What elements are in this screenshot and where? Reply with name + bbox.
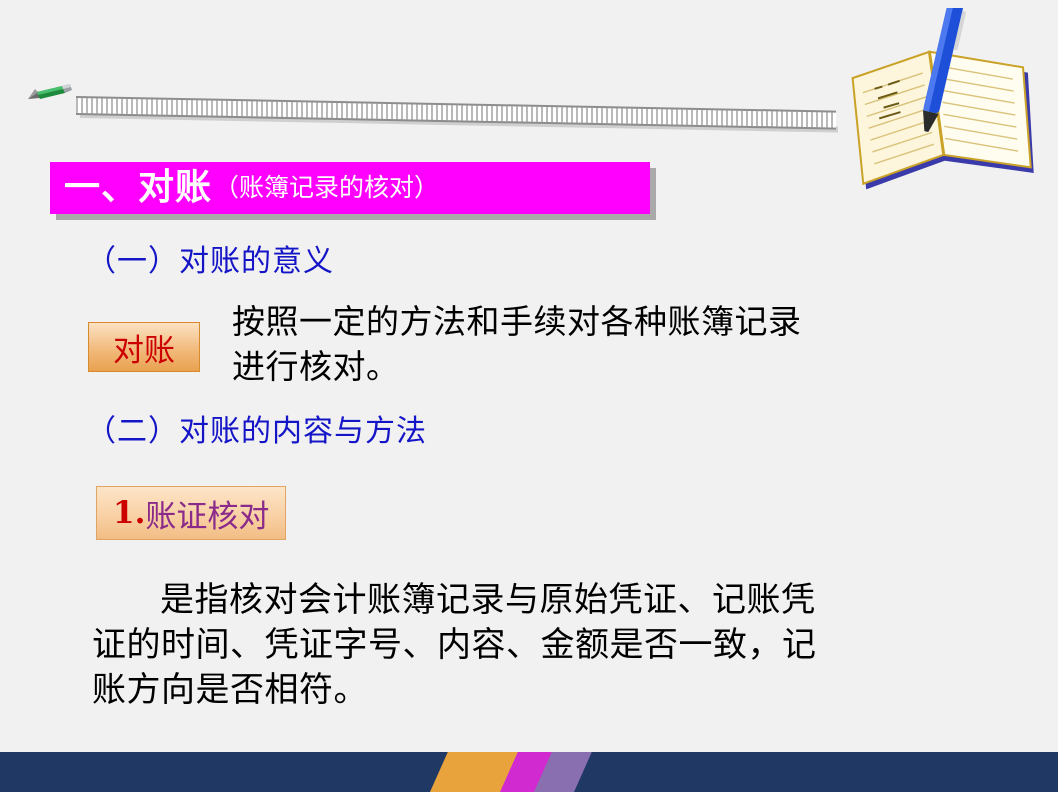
paragraph-definition: 按照一定的方法和手续对各种账簿记录进行核对。	[232, 300, 832, 389]
paragraph-body: 是指核对会计账簿记录与原始凭证、记账凭证的时间、凭证字号、内容、金额是否一致，记…	[92, 578, 822, 714]
heading-section-1: （一）对账的意义	[86, 236, 334, 280]
callout-duizhang: 对账	[88, 322, 200, 372]
open-notebook-image	[838, 8, 1054, 213]
callout-item-1-label: 账证核对	[145, 491, 269, 536]
callout-duizhang-label: 对账	[113, 325, 175, 370]
pencil-icon	[28, 84, 72, 106]
slide-title-main: 一、对账	[64, 170, 212, 206]
heading-section-2: （二）对账的内容与方法	[86, 406, 427, 450]
slide-title-bar: 一、对账 （账簿记录的核对）	[50, 162, 650, 214]
slide-canvas: 一、对账 （账簿记录的核对） （一）对账的意义 对账 按照一定的方法和手续对各种…	[0, 0, 1058, 792]
callout-item-1: 1. 账证核对	[96, 486, 286, 540]
ruler-decoration	[30, 88, 840, 130]
callout-item-1-number: 1.	[113, 495, 145, 531]
slide-title-sub: （账簿记录的核对）	[214, 175, 439, 202]
